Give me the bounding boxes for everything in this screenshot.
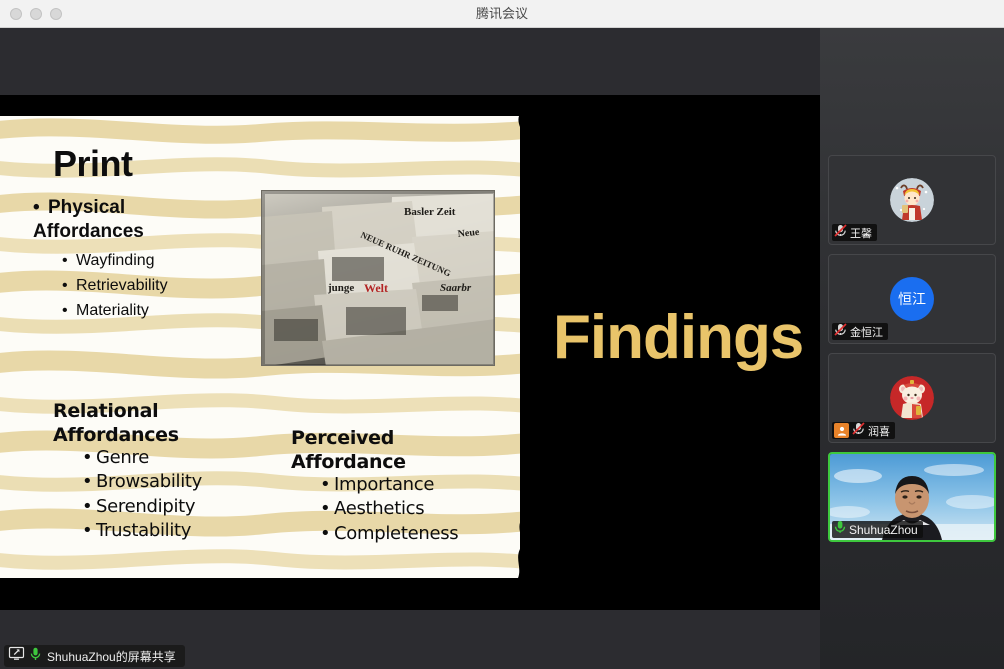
slide-heading: Print [53,143,133,185]
participant-tile-active-speaker[interactable]: ShuhuaZhou [828,452,996,542]
svg-text:Neue: Neue [457,227,480,240]
bullet-group-relational-label: Relational Affordances [53,399,283,448]
avatar [890,376,934,420]
perceived-line1: Perceived [291,427,394,449]
svg-text:Welt: Welt [364,281,388,295]
list-item: Wayfinding [76,252,155,269]
mic-on-icon [834,520,846,539]
list-item: Materiality [76,302,149,319]
avatar [890,178,934,222]
list-item: Retrievability [76,277,168,294]
meeting-window: 腾讯会议 [0,0,1004,669]
presentation-slide: Print •Physical Affordances •Wayfinding … [0,116,820,578]
screen-share-label: ShuhuaZhou的屏幕共享 [47,648,176,665]
list-item: Aesthetics [334,498,424,519]
list-item: Completeness [334,523,458,544]
mic-on-icon [30,647,41,666]
window-title: 腾讯会议 [0,0,1004,28]
list-item: Serendipity [96,496,195,517]
bullet-group-perceived-label: Perceived Affordance [291,426,520,475]
screen-share-icon [9,647,24,665]
slide-section-title: Findings [553,302,803,373]
bullet-group-physical-items: •Wayfinding •Retrievability •Materiality [62,249,292,323]
participant-namebar: 王馨 [832,224,877,241]
physical-line2: Affordances [33,221,144,242]
avatar-initials: 恒江 [898,289,926,309]
participant-namebar: ShuhuaZhou [832,521,923,538]
svg-text:Saarbr: Saarbr [440,282,472,294]
participant-name: 王馨 [850,225,872,241]
newspaper-rack-photo: Basler Zeit Neue NEUE RUHR ZEITUNG junge… [261,190,495,366]
shared-screen-stage[interactable]: Print •Physical Affordances •Wayfinding … [0,28,820,669]
bullet-group-relational-items: •Genre •Browsability •Serendipity •Trust… [82,446,312,544]
list-item: Browsability [96,471,202,492]
participant-tile[interactable]: 恒江 金恒江 [828,254,996,344]
list-item: Genre [96,447,149,468]
mic-muted-icon [852,422,865,440]
participant-tile[interactable]: 王馨 [828,155,996,245]
slide-paper: Print •Physical Affordances •Wayfinding … [0,116,520,578]
bullet-group-perceived-items: •Importance •Aesthetics •Completeness [320,473,520,546]
participant-namebar: 润喜 [832,422,895,439]
physical-line1: Physical [48,197,125,218]
bullet-group-physical-label: •Physical Affordances [33,196,273,245]
mic-muted-icon [834,224,847,242]
svg-text:junge: junge [327,282,354,294]
list-item: Importance [334,474,434,495]
relational-line1: Relational [53,400,158,422]
participant-name: 金恒江 [850,324,883,340]
titlebar: 腾讯会议 [0,0,1004,28]
host-person-icon [834,423,849,438]
participant-name: 润喜 [868,423,890,439]
perceived-line2: Affordance [291,451,406,473]
screen-share-banner: ShuhuaZhou的屏幕共享 [4,645,185,667]
participant-name: ShuhuaZhou [849,523,918,537]
participant-tile[interactable]: 润喜 [828,353,996,443]
participant-namebar: 金恒江 [832,323,888,340]
list-item: Trustability [96,520,191,541]
mic-muted-icon [834,323,847,341]
participant-sidebar[interactable]: 王馨 恒江 金恒江 [820,28,1004,669]
avatar: 恒江 [890,277,934,321]
svg-text:Basler Zeit: Basler Zeit [404,206,456,218]
relational-line2: Affordances [53,424,179,446]
